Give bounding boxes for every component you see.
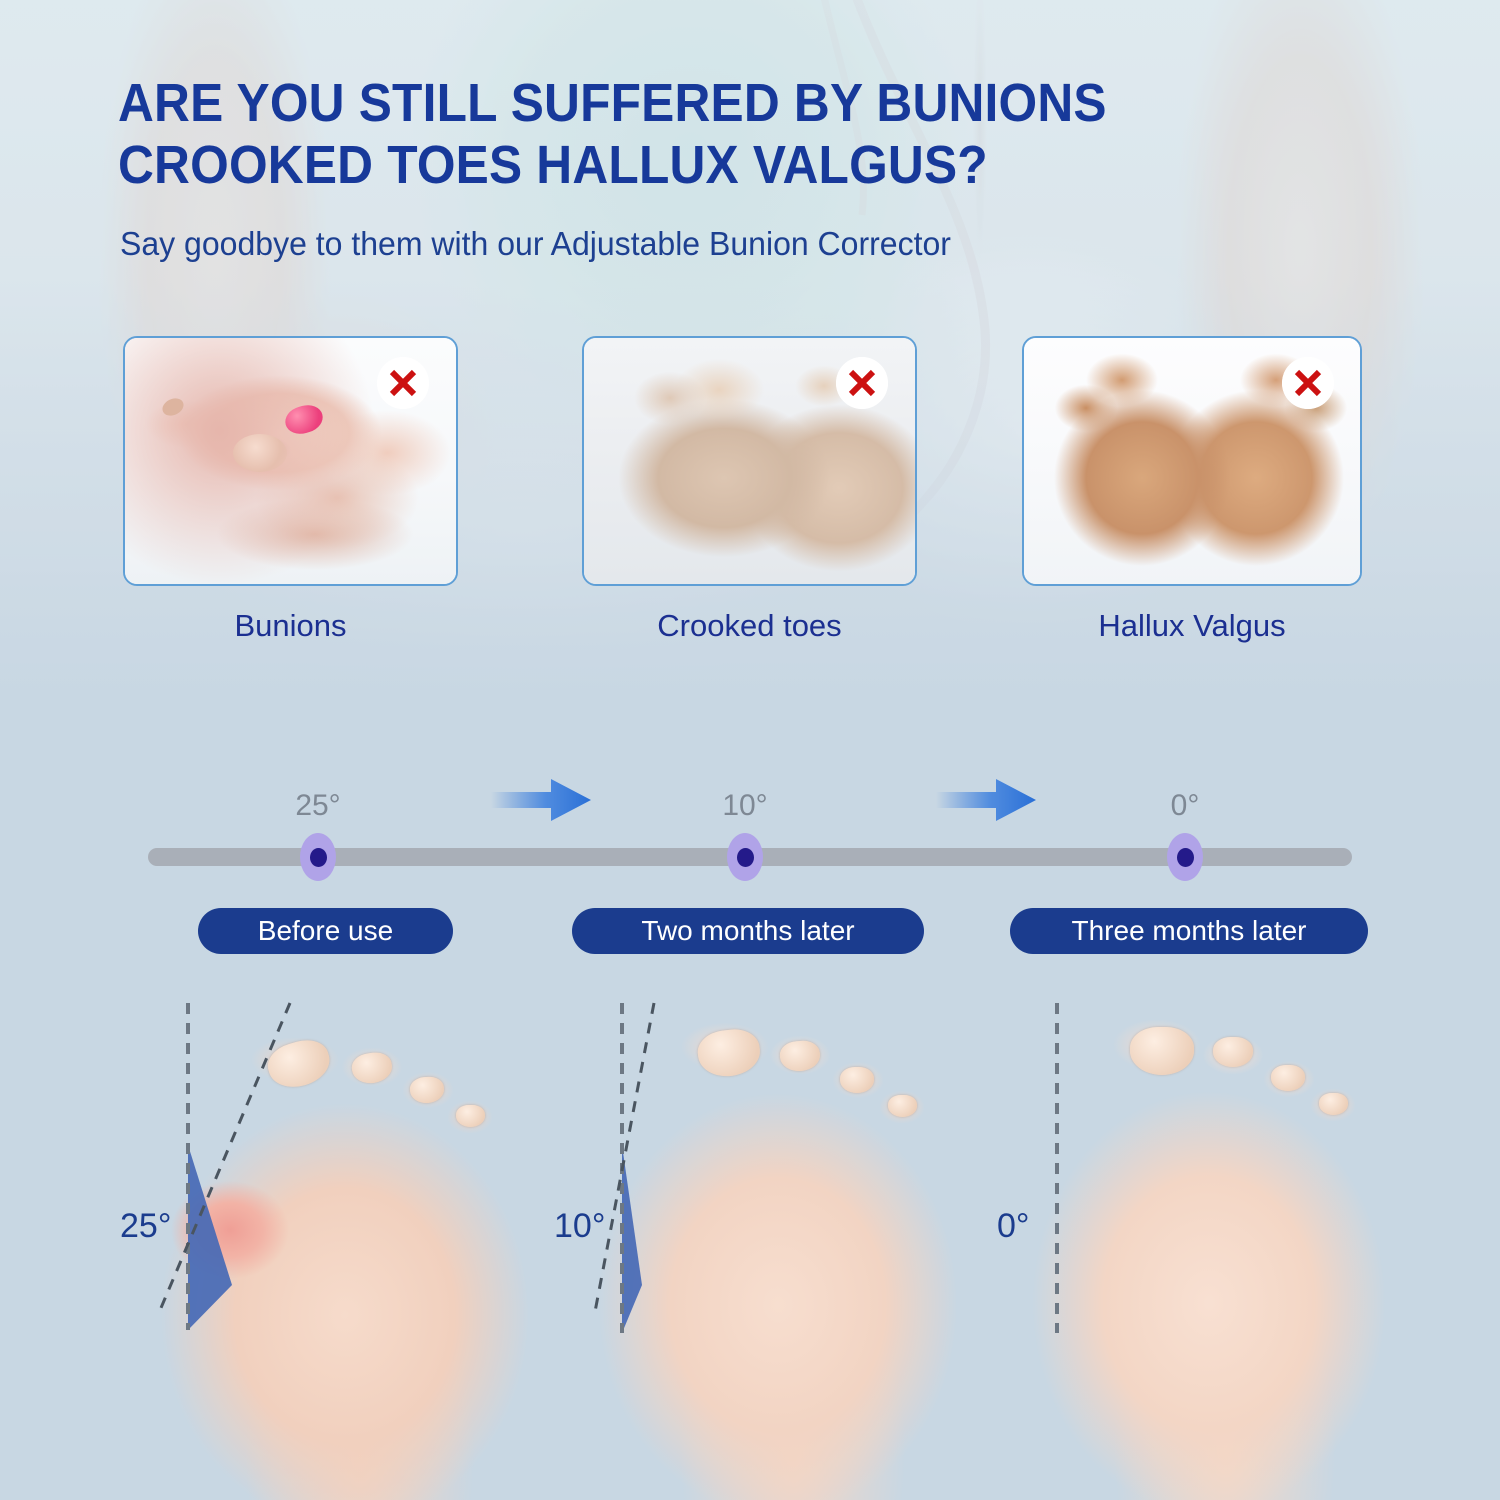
bunion-bump xyxy=(233,434,287,472)
angle-annotation-10 xyxy=(550,985,980,1500)
timeline-degree-three-months: 0° xyxy=(1125,789,1245,823)
condition-card-row: Bunions Crooked toes Hallux Valgus xyxy=(0,336,1500,646)
x-mark-icon xyxy=(836,357,888,409)
progress-arrow-icon xyxy=(489,776,593,824)
timeline-pill-three-months[interactable]: Three months later xyxy=(1010,908,1368,954)
foot-angle-label-10: 10° xyxy=(554,1207,605,1246)
x-mark-icon xyxy=(1282,357,1334,409)
timeline-handle-three-months[interactable] xyxy=(1167,833,1203,881)
foot-angle-25: 25° xyxy=(110,985,540,1500)
handle-dot xyxy=(1177,848,1194,867)
timeline-pill-two-months[interactable]: Two months later xyxy=(572,908,924,954)
timeline-degree-before-use: 25° xyxy=(258,789,378,823)
timeline-pill-before-use[interactable]: Before use xyxy=(198,908,453,954)
foot-angle-label-0: 0° xyxy=(997,1207,1030,1246)
page-title: ARE YOU STILL SUFFERED BY BUNIONS CROOKE… xyxy=(118,72,1268,196)
handle-dot xyxy=(737,848,754,867)
condition-label-hallux-valgus: Hallux Valgus xyxy=(1022,608,1362,644)
x-mark-icon xyxy=(377,357,429,409)
angle-wedge-25 xyxy=(188,1145,232,1330)
condition-card-hallux-valgus[interactable] xyxy=(1022,336,1362,586)
foot-comparison-row: 25° 10° 0° xyxy=(0,985,1500,1500)
angle-wedge-10 xyxy=(622,1145,642,1333)
condition-label-bunions: Bunions xyxy=(123,608,458,644)
condition-card-bunions[interactable] xyxy=(123,336,458,586)
timeline-handle-two-months[interactable] xyxy=(727,833,763,881)
angle-annotation-0 xyxy=(985,985,1415,1500)
progress-arrow-icon xyxy=(934,776,1038,824)
condition-label-crooked-toes: Crooked toes xyxy=(582,608,917,644)
handle-dot xyxy=(310,848,327,867)
foot-angle-label-25: 25° xyxy=(120,1207,171,1246)
foot-angle-10: 10° xyxy=(550,985,980,1500)
timeline-handle-before-use[interactable] xyxy=(300,833,336,881)
page-subtitle: Say goodbye to them with our Adjustable … xyxy=(120,222,1342,266)
foot-angle-0: 0° xyxy=(985,985,1415,1500)
toenail xyxy=(160,395,187,419)
angle-annotation-25 xyxy=(110,985,540,1500)
pink-toenail xyxy=(282,401,326,437)
condition-card-crooked-toes[interactable] xyxy=(582,336,917,586)
timeline-degree-two-months: 10° xyxy=(685,789,805,823)
